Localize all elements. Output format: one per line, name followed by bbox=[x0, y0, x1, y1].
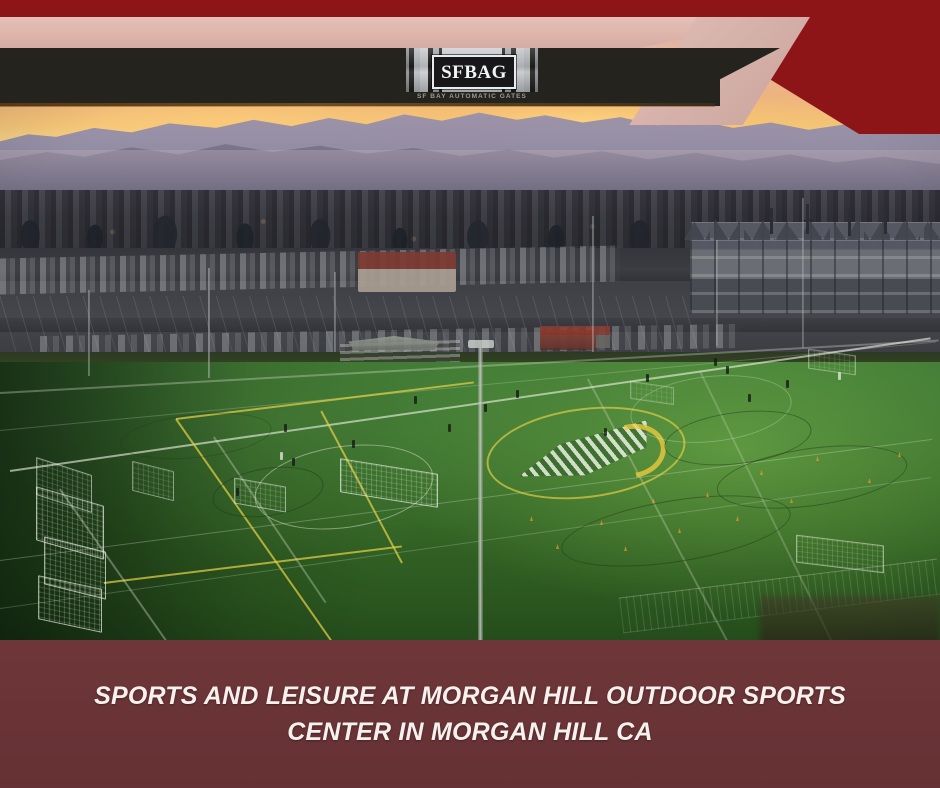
player bbox=[414, 396, 417, 404]
caption-line-2: CENTER IN MORGAN HILL CA bbox=[287, 714, 652, 751]
palm-tree bbox=[848, 210, 851, 236]
palm-tree bbox=[884, 206, 887, 234]
logo-tagline: SF BAY AUTOMATIC GATES bbox=[406, 93, 538, 100]
light-pole bbox=[592, 216, 594, 352]
player bbox=[236, 488, 239, 496]
logo-wordmark-box: SFBAG bbox=[432, 55, 516, 89]
stadium-light-head bbox=[468, 340, 494, 348]
light-pole bbox=[88, 290, 90, 376]
light-pole bbox=[716, 240, 718, 346]
sfbag-logo[interactable]: SFBAG SF BAY AUTOMATIC GATES bbox=[406, 48, 538, 106]
player bbox=[280, 452, 283, 460]
player bbox=[646, 374, 649, 382]
player bbox=[786, 380, 789, 388]
storage-container bbox=[540, 330, 596, 350]
player bbox=[292, 458, 295, 466]
light-pole bbox=[334, 272, 336, 352]
player bbox=[484, 404, 487, 412]
logo-wordmark: SFBAG bbox=[441, 63, 507, 82]
player bbox=[714, 358, 717, 366]
caption-line-1: SPORTS AND LEISURE AT MORGAN HILL OUTDOO… bbox=[94, 678, 846, 715]
promo-graphic: SFBAG SF BAY AUTOMATIC GATES SPORTS AND … bbox=[0, 0, 940, 788]
player bbox=[838, 372, 841, 380]
light-pole bbox=[208, 268, 210, 378]
caption-bar: SPORTS AND LEISURE AT MORGAN HILL OUTDOO… bbox=[0, 640, 940, 788]
light-pole bbox=[802, 198, 804, 348]
stadium-light-pole bbox=[478, 348, 483, 648]
player bbox=[448, 424, 451, 432]
townhouse-cluster bbox=[690, 222, 940, 314]
palm-tree bbox=[806, 204, 809, 234]
red-roof-building bbox=[358, 252, 456, 292]
palm-tree bbox=[770, 208, 773, 234]
dirt-patch bbox=[760, 596, 940, 646]
header-dark-band-edge bbox=[0, 103, 715, 107]
player bbox=[516, 390, 519, 398]
player bbox=[748, 394, 751, 402]
player bbox=[726, 366, 729, 374]
player bbox=[352, 440, 355, 448]
player bbox=[284, 424, 287, 432]
header-dark-diagonal bbox=[0, 48, 780, 105]
player bbox=[604, 428, 607, 436]
